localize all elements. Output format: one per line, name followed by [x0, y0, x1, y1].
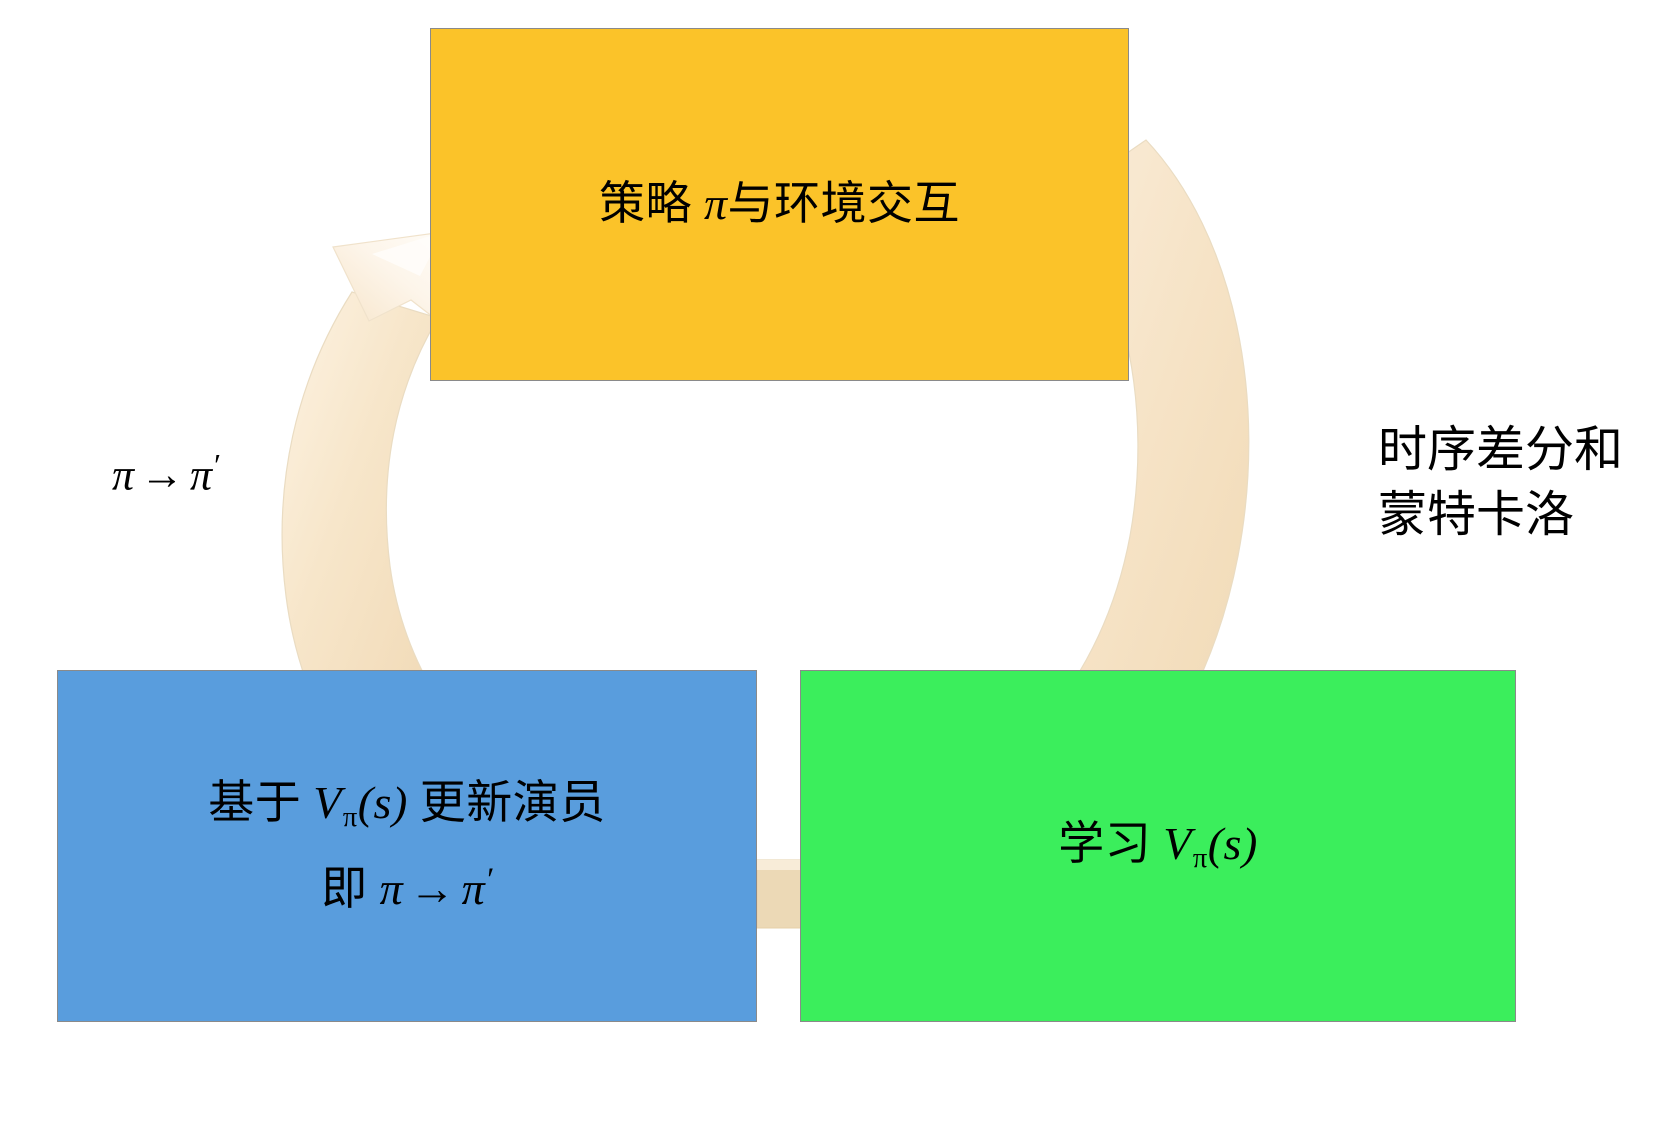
policy-improvement-label: π→π′ [112, 448, 219, 500]
evaluation-methods-label: 时序差分和 蒙特卡洛 [1378, 418, 1623, 547]
critic-learn-box[interactable]: 学习 Vπ(s) [800, 670, 1516, 1022]
policy-text-prefix: 策略 [599, 178, 704, 229]
diagram-canvas: 策略 π与环境交互 基于 Vπ(s) 更新演员 即 π→π′ 学习 Vπ(s) … [0, 0, 1666, 1122]
evaluation-methods-line-1: 时序差分和 [1378, 418, 1623, 483]
evaluation-methods-line-2: 蒙特卡洛 [1378, 483, 1623, 548]
actor-value-subscript-pi: π [343, 802, 358, 833]
left-label-pi: π [112, 450, 134, 499]
critic-text-prefix: 学习 [1058, 818, 1163, 869]
actor-value-function-V: V [313, 777, 342, 828]
critic-value-argument: (s) [1208, 818, 1258, 869]
actor-arrow-glyph: → [403, 863, 462, 914]
actor-line2-prefix: 即 [321, 863, 380, 914]
actor-box-line-1: 基于 Vπ(s) 更新演员 [208, 776, 606, 835]
critic-value-subscript-pi: π [1193, 843, 1208, 874]
actor-prime-mark: ′ [485, 861, 493, 898]
actor-policy-pi: π [380, 863, 404, 914]
actor-line1-prefix: 基于 [208, 777, 313, 828]
left-label-prime-mark: ′ [212, 448, 219, 483]
actor-line1-suffix: 更新演员 [408, 777, 606, 828]
critic-value-function-V: V [1163, 818, 1192, 869]
actor-update-box[interactable]: 基于 Vπ(s) 更新演员 即 π→π′ [57, 670, 757, 1022]
policy-pi-symbol: π [704, 178, 728, 229]
policy-box-text: 策略 π与环境交互 [599, 177, 960, 231]
policy-text-suffix: 与环境交互 [728, 178, 961, 229]
left-label-pi-prime: π [190, 450, 212, 499]
policy-interaction-box[interactable]: 策略 π与环境交互 [430, 28, 1129, 381]
actor-value-argument: (s) [358, 777, 408, 828]
left-label-arrow: → [134, 450, 190, 499]
actor-policy-pi-prime: π [462, 863, 486, 914]
critic-box-text: 学习 Vπ(s) [1058, 817, 1258, 876]
actor-box-line-2: 即 π→π′ [321, 860, 493, 916]
